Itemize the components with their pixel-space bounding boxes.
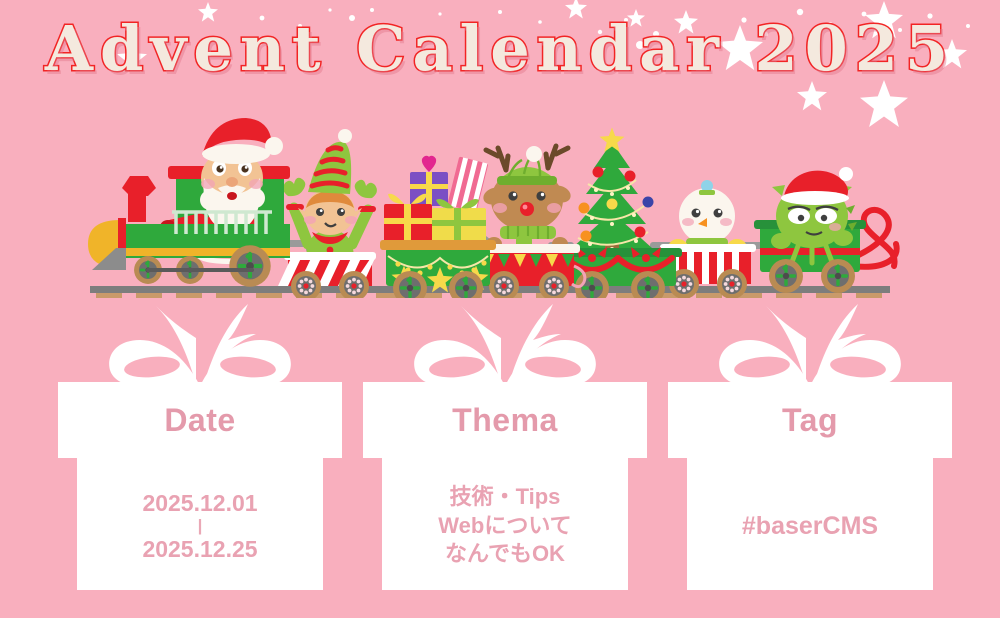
card-body-line: #baserCMS [742,510,878,543]
card-body-line: なんでもOK [445,540,565,569]
reindeer [481,146,573,252]
page-title: Advent Calendar 2025 [45,16,955,81]
card-heading: Date [164,402,235,439]
card-body-separator: | [198,518,203,534]
christmas-train-illustration [0,108,1000,298]
christmas-tree [572,128,654,255]
info-card-thema: Thema 技術・Tips Webについて なんでもOK [360,300,650,600]
card-body-panel: 技術・Tips Webについて なんでもOK [382,458,628,590]
train-car-elf [278,129,377,298]
train-car-gifts [380,156,496,298]
train-car-tree [560,128,682,299]
gift-bow-icon [100,300,300,390]
info-card-tag: Tag #baserCMS [665,300,955,600]
card-body-panel: 2025.12.01 | 2025.12.25 [77,458,323,590]
gift-bow-icon [405,300,605,390]
advent-calendar-banner: Advent Calendar 2025 [0,0,1000,618]
gift-bow-icon [710,300,910,390]
info-cards: Date 2025.12.01 | 2025.12.25 [0,300,1000,600]
card-heading: Thema [452,402,558,439]
card-heading: Tag [782,402,838,439]
banner-title-wrap: Advent Calendar 2025 [0,16,1000,81]
gift-boxes-stack [384,156,488,242]
info-card-date: Date 2025.12.01 | 2025.12.25 [55,300,345,600]
card-heading-panel: Thema [363,382,647,458]
train-car-reindeer [476,146,585,298]
card-heading-panel: Date [58,382,342,458]
train-car-caboose [754,167,897,293]
card-body-panel: #baserCMS [687,458,933,590]
card-body-line: 2025.12.25 [142,534,257,564]
card-heading-panel: Tag [668,382,952,458]
train-locomotive [88,118,290,287]
card-body-line: 技術・Tips [450,483,561,512]
card-body-line: Webについて [438,512,571,541]
card-body-line: 2025.12.01 [142,488,257,518]
